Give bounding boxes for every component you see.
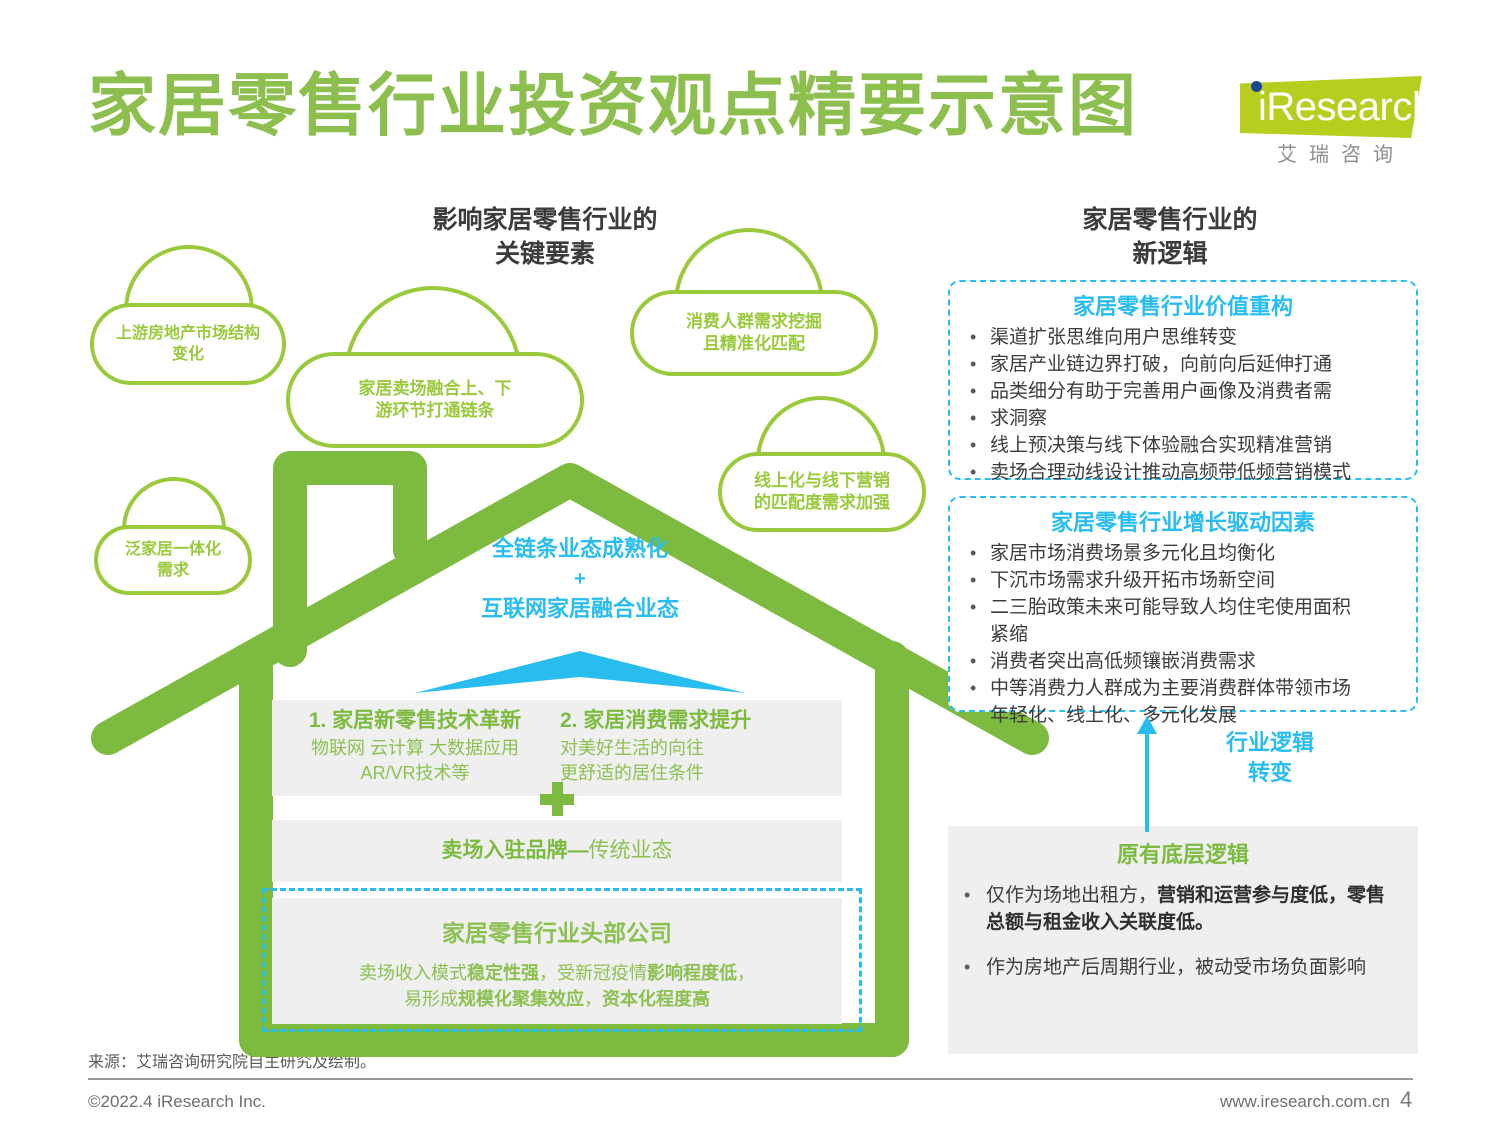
panel-value-reconstruction: 家居零售行业价值重构 渠道扩张思维向用户思维转变 家居产业链边界打破，向前向后延… — [948, 280, 1418, 480]
logic-label-line-2: 转变 — [1180, 758, 1360, 788]
cloud-label-line-2: 的匹配度需求加强 — [718, 492, 926, 514]
left-column-heading: 影响家居零售行业的 关键要素 — [380, 203, 710, 271]
cloud-label: 消费人群需求挖掘 且精准化匹配 — [630, 311, 878, 355]
cloud-label-line-2: 且精准化匹配 — [630, 333, 878, 355]
peak-line-1: 全链条业态成熟化 — [400, 532, 760, 566]
panel-value-list: 渠道扩张思维向用户思维转变 家居产业链边界打破，向前向后延伸打通 品类细分有助于… — [950, 324, 1416, 486]
cloud-integrated-home-demand: 泛家居一体化 需求 — [94, 525, 252, 595]
logic-label-line-1: 行业逻辑 — [1180, 728, 1360, 758]
leader-dashed-highlight-border — [262, 888, 862, 1032]
tech-col1-sub-line2: AR/VR技术等 — [276, 761, 554, 786]
logic-transition-label: 行业逻辑 转变 — [1180, 728, 1360, 788]
panel-growth-drivers: 家居零售行业增长驱动因素 家居市场消费场景多元化且均衡化 下沉市场需求升级开拓市… — [948, 496, 1418, 712]
panel-growth-list: 家居市场消费场景多元化且均衡化 下沉市场需求升级开拓市场新空间 二三胎政策未来可… — [950, 540, 1416, 729]
blue-upward-chevron-icon — [415, 651, 745, 695]
left-heading-line-1: 影响家居零售行业的 — [380, 203, 710, 237]
cloud-label: 线上化与线下营销 的匹配度需求加强 — [718, 470, 926, 514]
panel-original-logic: 原有底层逻辑 仅作为场地出租方，营销和运营参与度低，零售总额与租金收入关联度低。… — [948, 826, 1418, 1054]
list-item: 下沉市场需求升级开拓市场新空间 — [968, 567, 1406, 594]
green-plus-icon — [540, 782, 574, 816]
cloud-label-line-1: 消费人群需求挖掘 — [630, 311, 878, 333]
cloud-label-line-1: 泛家居一体化 — [94, 539, 252, 560]
cloud-label-line-1: 线上化与线下营销 — [718, 470, 926, 492]
legacy-list: 仅作为场地出租方，营销和运营参与度低，零售总额与租金收入关联度低。 作为房地产后… — [948, 882, 1418, 981]
cloud-label: 家居卖场融合上、下 游环节打通链条 — [286, 378, 584, 422]
tech-col2-title: 2. 家居消费需求提升 — [560, 706, 838, 736]
peak-line-2: 互联网家居融合业态 — [400, 592, 760, 626]
cloud-label-line-2: 游环节打通链条 — [286, 400, 584, 422]
list-item: 中等消费力人群成为主要消费群体带领市场 — [968, 675, 1406, 702]
logic-transition-arrow-icon — [1135, 716, 1159, 832]
logo-chinese-name: 艾瑞咨询 — [1240, 138, 1430, 167]
slide-canvas: 家居零售行业投资观点精要示意图 iResearch 艾瑞咨询 影响家居零售行业的… — [0, 0, 1500, 1125]
list-item: 品类细分有助于完善用户画像及消费者需 — [968, 378, 1406, 405]
cloud-marketplace-chain: 家居卖场融合上、下 游环节打通链条 — [286, 352, 584, 448]
tech-column-two: 2. 家居消费需求提升 对美好生活的向往 更舒适的居住条件 — [560, 706, 838, 786]
cloud-label: 上游房地产市场结构 变化 — [90, 323, 286, 365]
house-peak-text: 全链条业态成熟化 + 互联网家居融合业态 — [400, 532, 760, 626]
list-item: 家居产业链边界打破，向前向后延伸打通 — [968, 351, 1406, 378]
iresearch-logo: iResearch 艾瑞咨询 — [1222, 72, 1422, 168]
tech-col1-title: 1. 家居新零售技术革新 — [276, 706, 554, 736]
house-tier-brands: 卖场入驻品牌—传统业态 — [272, 820, 842, 882]
list-item: 求洞察 — [968, 405, 1406, 432]
panel-value-title: 家居零售行业价值重构 — [950, 292, 1416, 322]
cloud-online-offline-marketing: 线上化与线下营销 的匹配度需求加强 — [718, 452, 926, 532]
logo-wordmark: iResearch — [1258, 82, 1428, 132]
left-heading-line-2: 关键要素 — [380, 237, 710, 271]
cloud-consumer-demand: 消费人群需求挖掘 且精准化匹配 — [630, 290, 878, 376]
panel-growth-title: 家居零售行业增长驱动因素 — [950, 508, 1416, 538]
list-item: 线上预决策与线下体验融合实现精准营销 — [968, 432, 1406, 459]
tech-column-one: 1. 家居新零售技术革新 物联网 云计算 大数据应用 AR/VR技术等 — [276, 706, 554, 786]
tech-col2-sub-line2: 更舒适的居住条件 — [560, 761, 838, 786]
brand-tier-line: 卖场入驻品牌—传统业态 — [272, 836, 842, 866]
cloud-label: 泛家居一体化 需求 — [94, 539, 252, 581]
footer-copyright: ©2022.4 iResearch Inc. — [88, 1090, 266, 1114]
peak-plus-symbol: + — [400, 566, 760, 592]
list-item-continuation: 年轻化、线上化、多元化发展 — [968, 702, 1406, 729]
plus-vertical-bar — [552, 782, 563, 816]
list-item: 作为房地产后周期行业，被动受市场负面影响 — [958, 954, 1402, 981]
tech-col1-sub-line1: 物联网 云计算 大数据应用 — [276, 736, 554, 761]
list-item: 消费者突出高低频镶嵌消费需求 — [968, 648, 1406, 675]
cloud-label-line-2: 变化 — [90, 344, 286, 365]
footer-website-url[interactable]: www.iresearch.com.cn — [1160, 1090, 1390, 1114]
cloud-upstream-realestate: 上游房地产市场结构 变化 — [90, 303, 286, 385]
right-heading-line-2: 新逻辑 — [1000, 237, 1340, 271]
page-title: 家居零售行业投资观点精要示意图 — [88, 68, 1148, 144]
cloud-label-line-2: 需求 — [94, 560, 252, 581]
list-item: 家居市场消费场景多元化且均衡化 — [968, 540, 1406, 567]
list-item: 渠道扩张思维向用户思维转变 — [968, 324, 1406, 351]
logo-research-text: Research — [1266, 85, 1433, 129]
list-item-continuation: 紧缩 — [968, 621, 1406, 648]
legacy-item1-b: 营销和运营参与度低， — [1157, 885, 1347, 906]
legacy-title: 原有底层逻辑 — [948, 840, 1418, 870]
right-column-heading: 家居零售行业的 新逻辑 — [1000, 203, 1340, 271]
list-item: 仅作为场地出租方，营销和运营参与度低，零售总额与租金收入关联度低。 — [958, 882, 1402, 936]
footer-page-number: 4 — [1400, 1086, 1440, 1114]
brand-tier-bold-text: 卖场入驻品牌— — [442, 839, 589, 862]
list-item: 二三胎政策未来可能导致人均住宅使用面积 — [968, 594, 1406, 621]
legacy-item1-a: 仅作为场地出租方， — [986, 885, 1157, 906]
cloud-label-line-1: 家居卖场融合上、下 — [286, 378, 584, 400]
cloud-label-line-1: 上游房地产市场结构 — [90, 323, 286, 344]
right-heading-line-1: 家居零售行业的 — [1000, 203, 1340, 237]
list-item: 卖场合理动线设计推动高频带低频营销模式 — [968, 459, 1406, 486]
tech-col2-sub-line1: 对美好生活的向往 — [560, 736, 838, 761]
brand-tier-normal-text: 传统业态 — [589, 839, 673, 862]
